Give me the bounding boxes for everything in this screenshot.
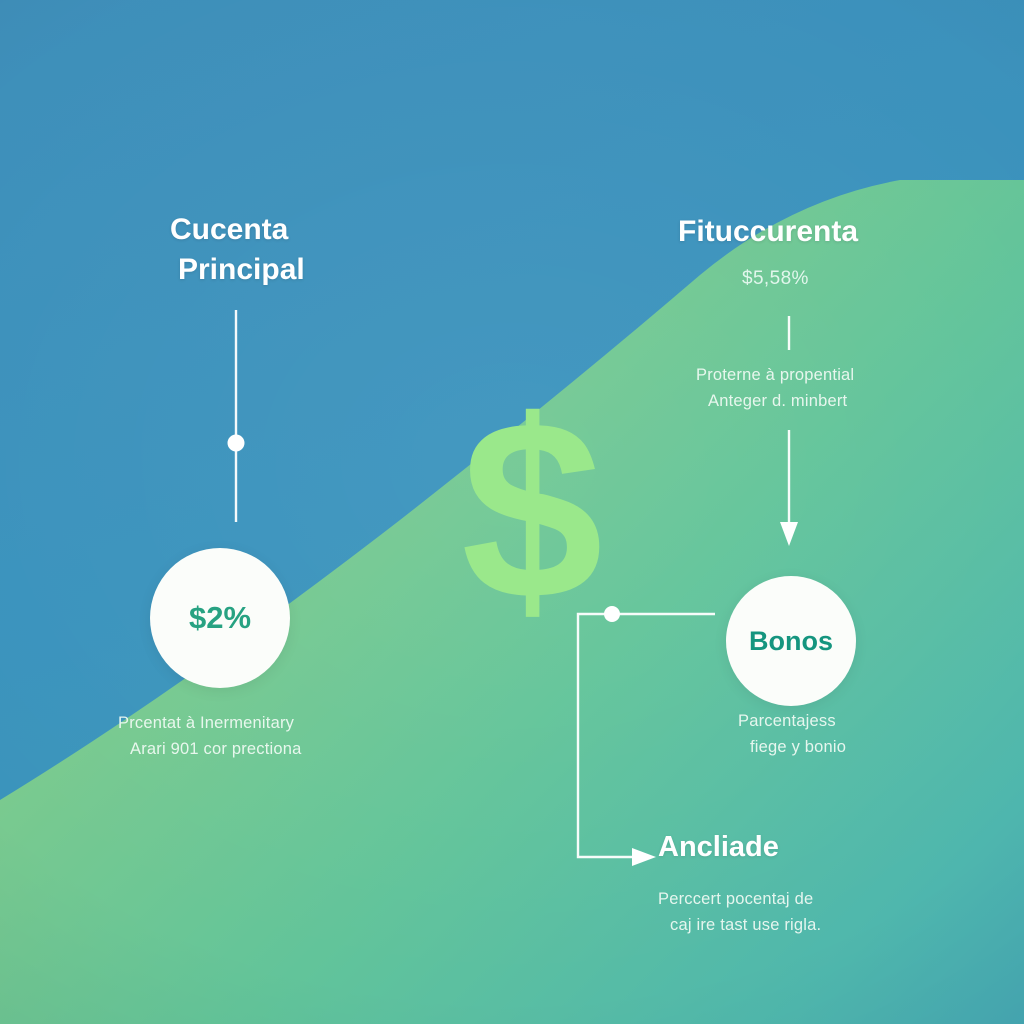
bottom-caption-line2: caj ire tast use rigla. xyxy=(658,912,988,938)
left-node-value: $2% xyxy=(189,600,251,636)
right-branch-caption: Proterne à propential Anteger d. minbert xyxy=(696,362,1016,414)
left-branch-heading: Cucenta Principal xyxy=(170,210,500,290)
right-caption-line1: Proterne à propential xyxy=(696,362,1016,388)
right-branch-heading: Fituccurenta xyxy=(678,212,1008,252)
right-branch-value: $5,58% xyxy=(742,268,809,290)
bonos-node-circle[interactable]: Bonos xyxy=(726,576,856,706)
bonos-caption-line1: Parcentajess xyxy=(738,708,1018,734)
bonos-caption-line2: fiege y bonio xyxy=(738,734,1018,760)
left-caption-line2: Arari 901 cor prectiona xyxy=(118,736,458,762)
bonos-node-label: Bonos xyxy=(749,626,833,657)
dollar-sign-icon: $ xyxy=(445,396,615,626)
right-caption-line2: Anteger d. minbert xyxy=(696,388,1016,414)
bottom-branch-heading: Ancliade xyxy=(658,831,779,864)
bottom-caption-line1: Perccert pocentaj de xyxy=(658,886,988,912)
left-heading-line1: Cucenta xyxy=(170,210,500,250)
bonos-node-caption: Parcentajess fiege y bonio xyxy=(738,708,1018,760)
infographic-canvas: $ Cucenta Principal $2% Prcentat à Inerm… xyxy=(0,0,1024,1024)
left-caption-line1: Prcentat à Inermenitary xyxy=(118,710,458,736)
left-node-circle[interactable]: $2% xyxy=(150,548,290,688)
left-heading-line2: Principal xyxy=(170,250,500,290)
bottom-branch-caption: Perccert pocentaj de caj ire tast use ri… xyxy=(658,886,988,938)
left-node-caption: Prcentat à Inermenitary Arari 901 cor pr… xyxy=(118,710,458,762)
